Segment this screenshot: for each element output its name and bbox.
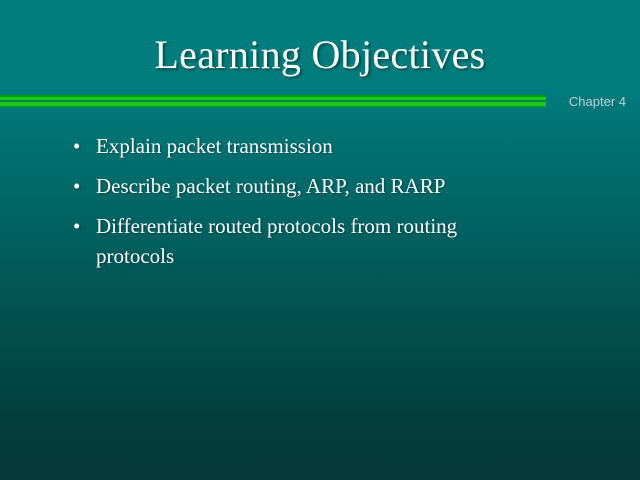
list-item-label: Describe packet routing, ARP, and RARP <box>96 171 568 201</box>
bullet-point-icon: • <box>68 211 96 241</box>
list-item-label: Differentiate routed protocols from rout… <box>96 211 481 271</box>
bullet-list: • Explain packet transmission • Describe… <box>68 131 568 281</box>
list-item: • Differentiate routed protocols from ro… <box>68 211 568 271</box>
header-divider-rule <box>0 95 546 108</box>
chapter-label: Chapter 4 <box>569 93 626 110</box>
divider-stripe-5 <box>0 106 546 108</box>
presentation-slide: Learning Objectives Chapter 4 • Explain … <box>0 0 640 480</box>
bullet-point-icon: • <box>68 131 96 161</box>
list-item: • Describe packet routing, ARP, and RARP <box>68 171 568 201</box>
list-item: • Explain packet transmission <box>68 131 568 161</box>
slide-title: Learning Objectives <box>0 30 640 80</box>
list-item-label: Explain packet transmission <box>96 131 568 161</box>
bullet-point-icon: • <box>68 171 96 201</box>
